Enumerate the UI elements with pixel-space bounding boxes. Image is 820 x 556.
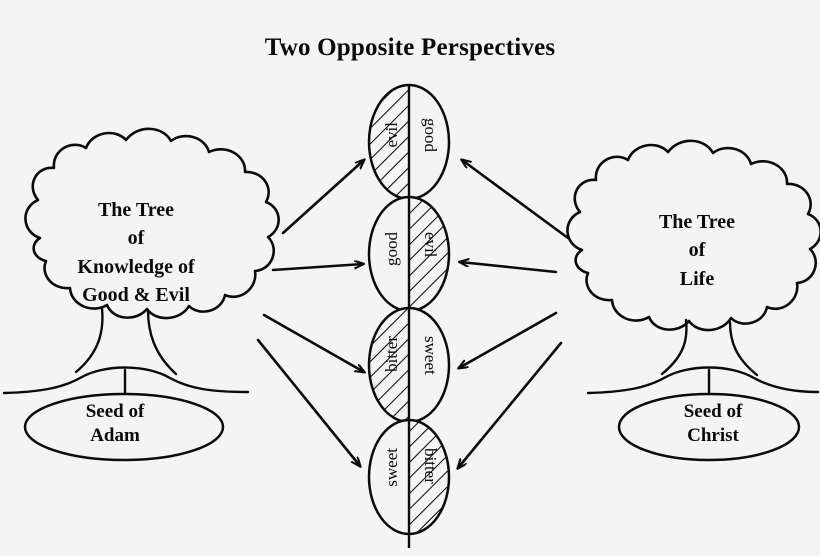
tree-right-graphic	[567, 141, 820, 460]
arrow-left-to-ellipse4	[258, 340, 360, 466]
seed-right-ellipse	[619, 394, 799, 460]
arrows-from-right-tree	[458, 160, 568, 468]
arrow-right-to-ellipse2	[460, 262, 556, 272]
arrow-left-to-ellipse2	[273, 264, 363, 270]
arrow-right-to-ellipse3	[459, 313, 556, 368]
seed-left-ellipse	[25, 394, 223, 460]
tree-left-trunk-right	[148, 310, 176, 374]
arrow-left-to-ellipse1	[283, 160, 364, 233]
arrow-right-to-ellipse1	[462, 160, 568, 238]
tree-right-ground-line	[588, 368, 818, 394]
diagram-canvas: Two Opposite Perspectives The Tree of Kn…	[0, 0, 820, 556]
tree-left-trunk-left	[76, 308, 102, 372]
tree-right-canopy	[567, 141, 820, 330]
tree-right-trunk-right	[730, 322, 757, 375]
arrow-right-to-ellipse4	[458, 343, 561, 468]
tree-left-canopy	[25, 129, 278, 318]
arrow-left-to-ellipse3	[264, 315, 364, 372]
tree-left-graphic	[4, 129, 279, 460]
diagram-vector-layer	[0, 0, 820, 556]
